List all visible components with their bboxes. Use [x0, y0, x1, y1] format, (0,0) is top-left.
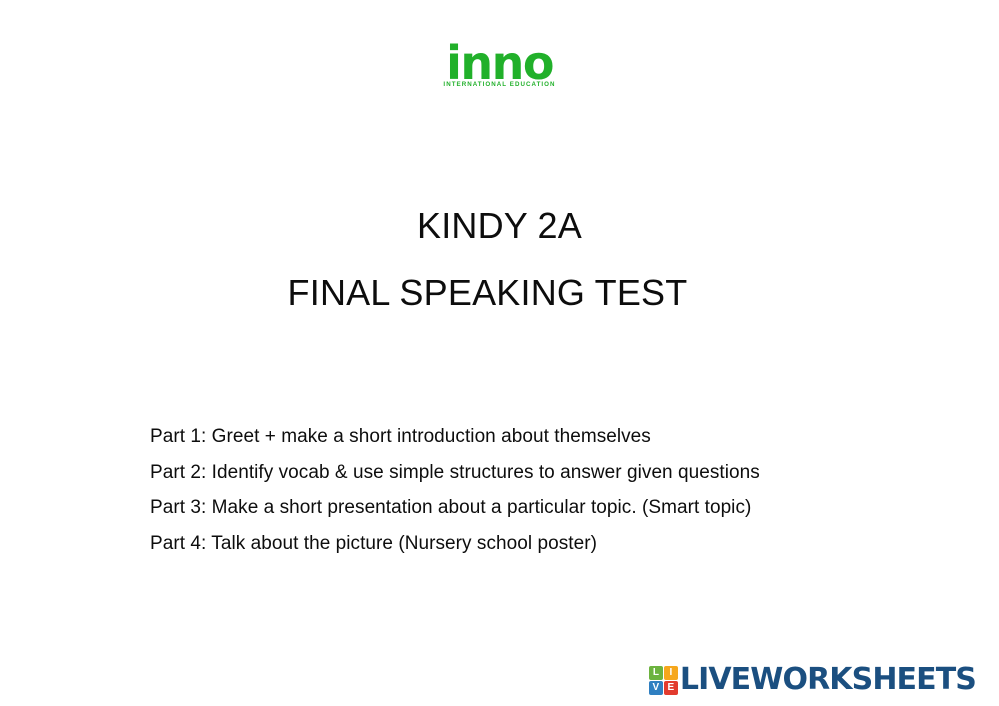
part-item-2: Part 2: Identify vocab & use simple stru…	[150, 463, 910, 482]
lws-tile-v: V	[649, 681, 663, 695]
title-line-test-name: FINAL SPEAKING TEST	[0, 275, 999, 311]
liveworksheets-wordmark: LIVEWORKSHEETS	[680, 665, 976, 695]
lws-tile-l: L	[649, 666, 663, 680]
liveworksheets-watermark[interactable]: L I V E LIVEWORKSHEETS	[649, 665, 976, 695]
title-line-class: KINDY 2A	[0, 208, 999, 244]
inno-tagline: INTERNATIONAL EDUCATION	[443, 81, 555, 88]
part-item-1: Part 1: Greet + make a short introductio…	[150, 427, 910, 446]
parts-list: Part 1: Greet + make a short introductio…	[150, 427, 910, 553]
lws-tile-i: I	[664, 666, 678, 680]
inno-wordmark: inno	[446, 40, 553, 80]
part-item-3: Part 3: Make a short presentation about …	[150, 498, 910, 517]
liveworksheets-logo-icon: L I V E	[649, 666, 678, 695]
page-title: KINDY 2A FINAL SPEAKING TEST	[0, 208, 999, 311]
slide-canvas: inno INTERNATIONAL EDUCATION KINDY 2A FI…	[0, 0, 999, 706]
inno-logo: inno INTERNATIONAL EDUCATION	[0, 40, 999, 88]
part-item-4: Part 4: Talk about the picture (Nursery …	[150, 534, 910, 553]
lws-tile-e: E	[664, 681, 678, 695]
